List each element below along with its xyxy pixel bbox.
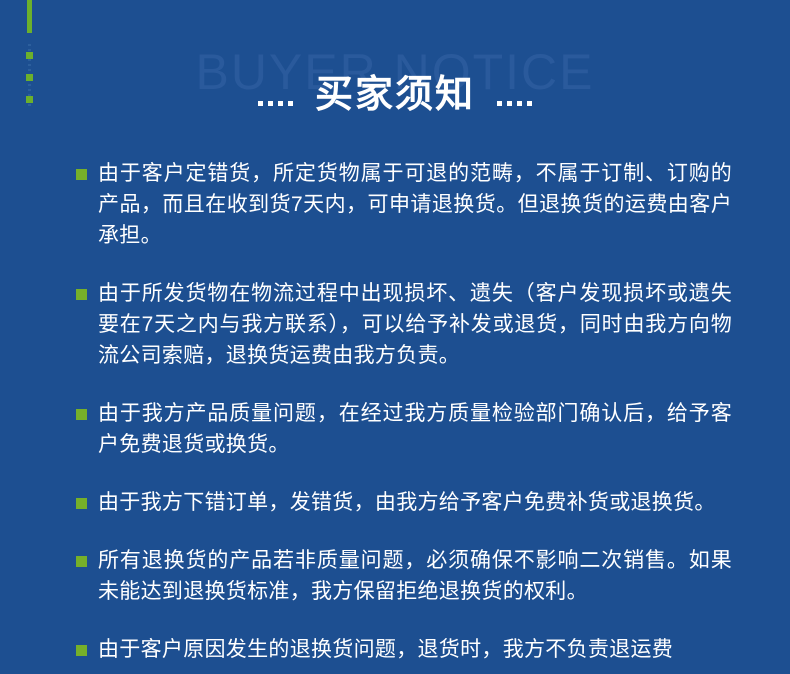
bullet-square-icon (76, 556, 87, 567)
bullet-square-icon (76, 645, 87, 656)
bullet-square-icon (76, 289, 87, 300)
title-dots-right-icon (497, 85, 532, 106)
notice-list: 由于客户定错货，所定货物属于可退的范畴，不属于订制、订购的产品，而且在收到货7天… (0, 158, 790, 665)
notice-text: 所有退换货的产品若非质量问题，必须确保不影响二次销售。如果未能达到退换货标准，我… (98, 545, 732, 607)
notice-item: 由于所发货物在物流过程中出现损坏、遗失（客户发现损坏或遗失要在7天之内与我方联系… (0, 278, 790, 371)
bullet-square-icon (76, 169, 87, 180)
notice-item: 由于客户原因发生的退换货问题，退货时，我方不负责退运费 (0, 634, 790, 665)
notice-text: 由于客户定错货，所定货物属于可退的范畴，不属于订制、订购的产品，而且在收到货7天… (98, 158, 732, 251)
notice-item: 由于我方下错订单，发错货，由我方给予客户免费补货或退换货。 (0, 487, 790, 518)
page-header: BUYER NOTICE 买家须知 (0, 0, 790, 140)
bullet-square-icon (76, 498, 87, 509)
title-row: 买家须知 (0, 76, 790, 114)
notice-item: 由于我方产品质量问题，在经过我方质量检验部门确认后，给予客户免费退货或换货。 (0, 398, 790, 460)
notice-text: 由于我方下错订单，发错货，由我方给予客户免费补货或退换货。 (98, 487, 732, 518)
notice-item: 所有退换货的产品若非质量问题，必须确保不影响二次销售。如果未能达到退换货标准，我… (0, 545, 790, 607)
notice-text: 由于我方产品质量问题，在经过我方质量检验部门确认后，给予客户免费退货或换货。 (98, 398, 732, 460)
notice-item: 由于客户定错货，所定货物属于可退的范畴，不属于订制、订购的产品，而且在收到货7天… (0, 158, 790, 251)
title-dots-left-icon (258, 85, 293, 106)
buyer-notice-page: { "theme": { "background": "#1d4f91", "a… (0, 0, 790, 674)
notice-text: 由于客户原因发生的退换货问题，退货时，我方不负责退运费 (98, 634, 732, 665)
bullet-square-icon (76, 409, 87, 420)
notice-text: 由于所发货物在物流过程中出现损坏、遗失（客户发现损坏或遗失要在7天之内与我方联系… (98, 278, 732, 371)
page-title: 买家须知 (315, 76, 475, 114)
